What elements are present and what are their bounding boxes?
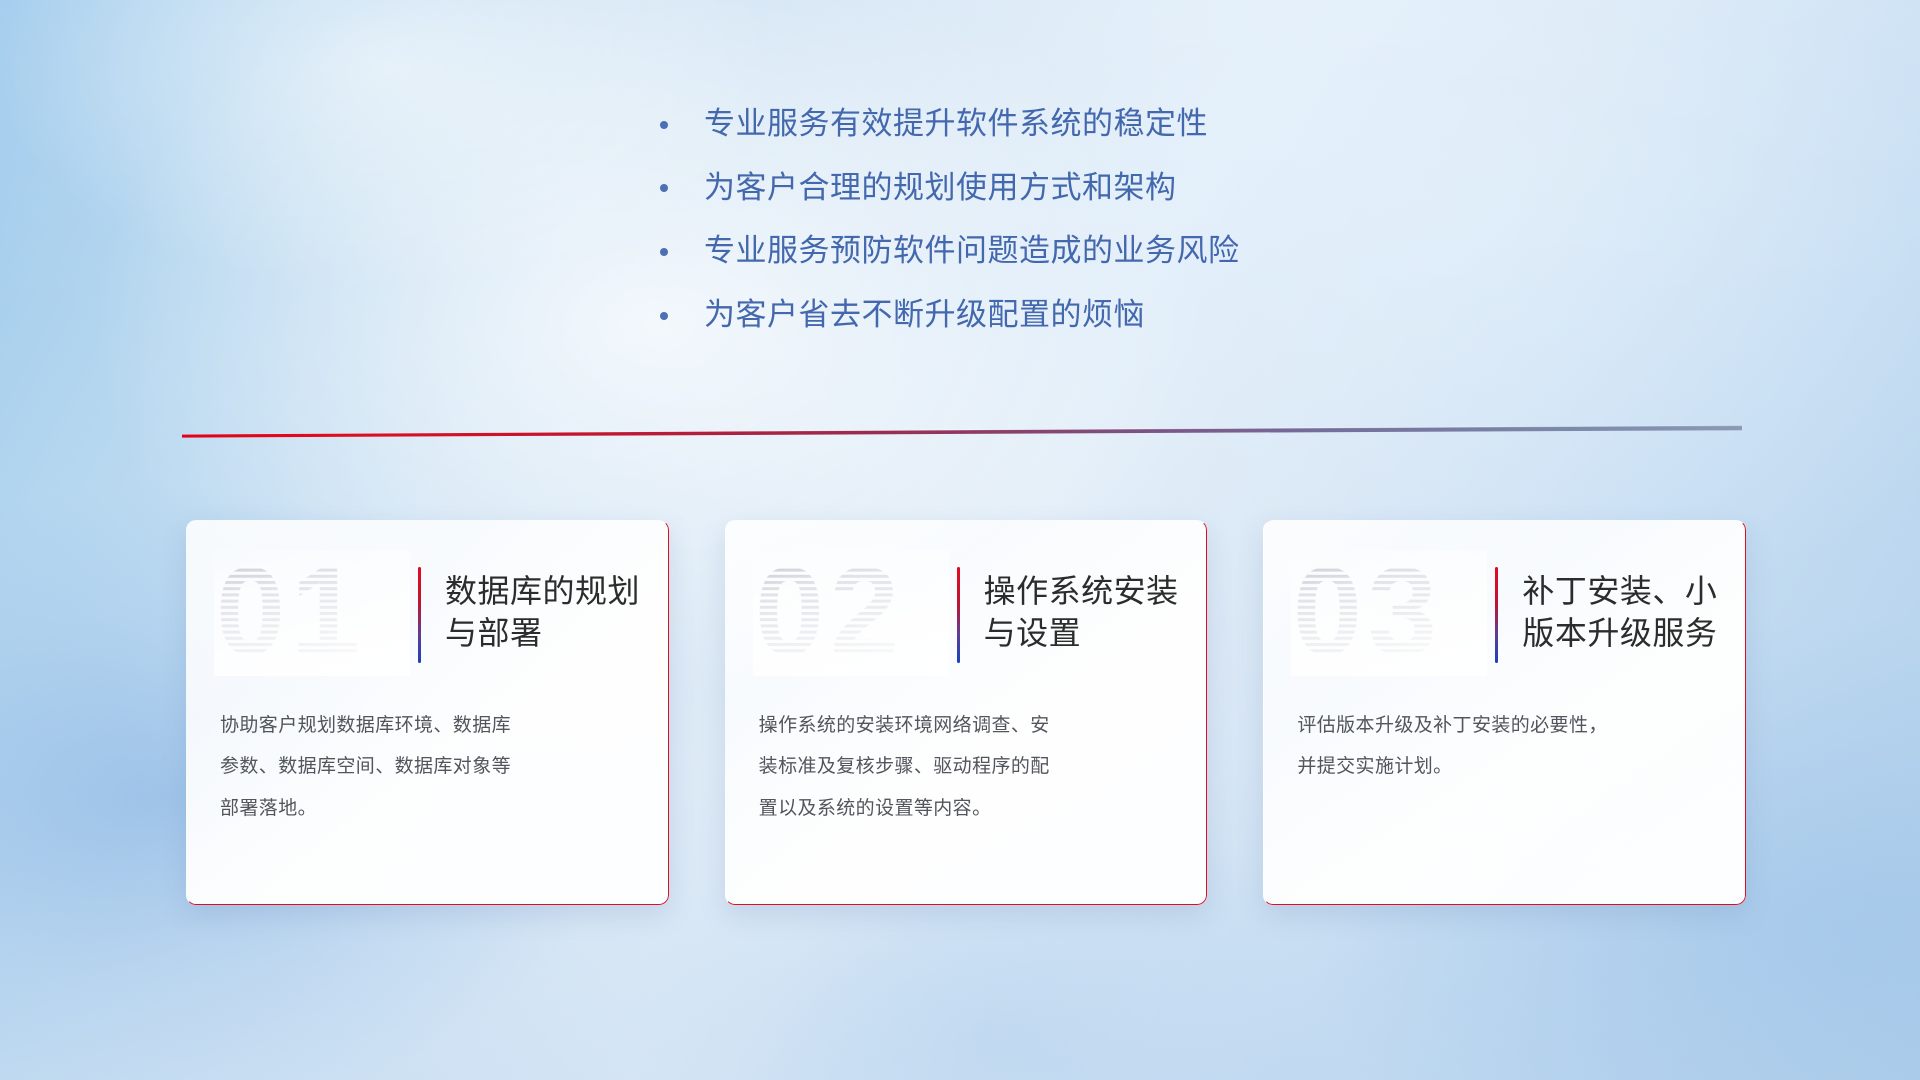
list-item: 为客户合理的规划使用方式和架构 [660, 170, 1240, 206]
slide-content: 专业服务有效提升软件系统的稳定性 为客户合理的规划使用方式和架构 专业服务预防软… [0, 0, 1920, 1080]
card-accent-bar [957, 567, 960, 663]
card-title: 补丁安装、小版本升级服务 [1522, 571, 1720, 654]
service-card[interactable]: 02 02 操作系统安装与设置 操作系统的安装环境网络调查、安 装标准及复核步骤… [725, 520, 1208, 905]
bullet-text: 专业服务预防软件问题造成的业务风险 [704, 233, 1240, 269]
card-title: 操作系统安装与设置 [984, 571, 1182, 654]
bullet-text: 为客户合理的规划使用方式和架构 [704, 170, 1177, 206]
card-number-graphic: 03 03 [1291, 550, 1487, 676]
striped-number-03-icon: 03 03 [1291, 550, 1487, 676]
bullet-text: 为客户省去不断升级配置的烦恼 [704, 297, 1145, 333]
card-accent-bar [418, 567, 421, 663]
card-header: 03 03 补丁安装、小版本升级服务 [1263, 520, 1746, 705]
list-item: 为客户省去不断升级配置的烦恼 [660, 297, 1240, 333]
card-number-graphic: 02 02 [753, 550, 949, 676]
bullet-dot-icon [660, 248, 668, 256]
card-header: 01 01 数据库的规划与部署 [186, 520, 669, 705]
list-item: 专业服务预防软件问题造成的业务风险 [660, 233, 1240, 269]
card-description-line: 协助客户规划数据库环境、数据库 [220, 705, 635, 746]
striped-number-01-icon: 01 01 [214, 550, 410, 676]
card-description-line: 装标准及复核步骤、驱动程序的配 [759, 746, 1174, 787]
card-number-graphic: 01 01 [214, 550, 410, 676]
striped-number-02-icon: 02 02 [753, 550, 949, 676]
section-divider [182, 425, 1742, 439]
bullet-dot-icon [660, 121, 668, 129]
card-description-line: 操作系统的安装环境网络调查、安 [759, 705, 1174, 746]
card-description-line: 并提交实施计划。 [1297, 746, 1712, 787]
list-item: 专业服务有效提升软件系统的稳定性 [660, 106, 1240, 142]
card-description-line: 置以及系统的设置等内容。 [759, 788, 1174, 829]
card-description-line: 评估版本升级及补丁安装的必要性， [1297, 705, 1712, 746]
divider-shape [182, 425, 1742, 439]
service-card[interactable]: 03 03 补丁安装、小版本升级服务 评估版本升级及补丁安装的必要性， 并提交实… [1263, 520, 1746, 905]
bullet-dot-icon [660, 184, 668, 192]
service-card-row: 01 01 数据库的规划与部署 协助客户规划数据库环境、数据库 参数、数据库空间… [186, 520, 1746, 905]
card-description: 协助客户规划数据库环境、数据库 参数、数据库空间、数据库对象等 部署落地。 [186, 705, 669, 829]
bullet-text: 专业服务有效提升软件系统的稳定性 [704, 106, 1208, 142]
card-description-line: 参数、数据库空间、数据库对象等 [220, 746, 635, 787]
card-description: 评估版本升级及补丁安装的必要性， 并提交实施计划。 [1263, 705, 1746, 788]
card-description: 操作系统的安装环境网络调查、安 装标准及复核步骤、驱动程序的配 置以及系统的设置… [725, 705, 1208, 829]
service-card[interactable]: 01 01 数据库的规划与部署 协助客户规划数据库环境、数据库 参数、数据库空间… [186, 520, 669, 905]
card-title: 数据库的规划与部署 [445, 571, 643, 654]
card-accent-bar [1495, 567, 1498, 663]
card-description-line: 部署落地。 [220, 788, 635, 829]
benefits-bullet-list: 专业服务有效提升软件系统的稳定性 为客户合理的规划使用方式和架构 专业服务预防软… [660, 106, 1240, 333]
card-header: 02 02 操作系统安装与设置 [725, 520, 1208, 705]
bullet-dot-icon [660, 312, 668, 320]
